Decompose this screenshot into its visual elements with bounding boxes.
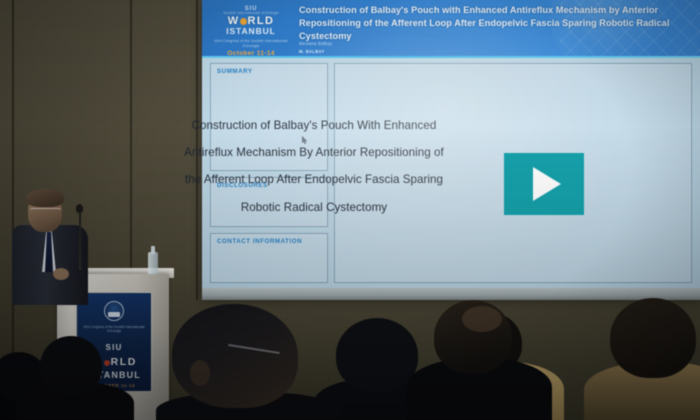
audience-head: [610, 298, 696, 378]
microphone-stand: [79, 208, 81, 270]
logo-city-text: ISTANBUL: [209, 27, 293, 36]
mouse-cursor-icon: [302, 136, 308, 145]
slide-main-title-line: Construction of Balbay's Pouch With Enha…: [148, 112, 480, 139]
play-button[interactable]: [504, 153, 584, 215]
audience-scalp: [462, 306, 502, 332]
audience-head: [434, 300, 512, 374]
slide-main-title-line: Robotic Radical Cystectomy: [148, 194, 480, 221]
audience-ear: [190, 360, 210, 386]
play-triangle-icon: [533, 167, 561, 201]
audience-member-foreground: [172, 304, 328, 420]
speaker-hair: [26, 189, 64, 207]
water-bottle: [148, 246, 158, 274]
slide-header-title: Construction of Balbay's Pouch with Enha…: [299, 4, 691, 43]
slide-header-band: SIU Société Internationale d'Urologie WR…: [202, 0, 700, 58]
logo-orange-dot-icon: [240, 18, 247, 25]
siu-emblem-icon: [104, 301, 124, 321]
video-frame: SIU Société Internationale d'Urologie WR…: [0, 0, 700, 420]
panel-contact-information[interactable]: CONTACT INFORMATION: [210, 233, 328, 283]
audience-member: [424, 300, 528, 420]
audience-head: [172, 304, 298, 408]
podium-sign-congress-line: 43rd Congress of the Société Internation…: [77, 325, 151, 334]
audience-member: [600, 298, 700, 420]
slide-main-title-line: Antireflux Mechanism By Anterior Reposit…: [148, 139, 480, 166]
speaker-hand: [53, 268, 69, 280]
audience-member: [26, 336, 118, 420]
panel-summary-label: SUMMARY: [217, 68, 253, 75]
water-bottle-body: [148, 252, 158, 274]
audience-head: [336, 318, 418, 392]
slide-main-title: Construction of Balbay's Pouch With Enha…: [148, 112, 480, 221]
audience-head: [40, 336, 102, 396]
audience-glasses-icon: [228, 344, 280, 354]
header-accent-underline: [202, 56, 700, 58]
logo-congress-line: 43rd Congress of the Société Internation…: [209, 39, 293, 49]
slide-header-authors: Mevlana Balbay: [299, 41, 332, 48]
slide-main-title-line: the Afferent Loop After Endopelvic Fasci…: [148, 166, 480, 193]
slide-header-presenter: M. BALBAY: [299, 49, 325, 54]
panel-contact-label: CONTACT INFORMATION: [217, 238, 302, 245]
siu-congress-logo: SIU Société Internationale d'Urologie WR…: [209, 3, 293, 57]
speaker-glasses-icon: [30, 208, 61, 214]
